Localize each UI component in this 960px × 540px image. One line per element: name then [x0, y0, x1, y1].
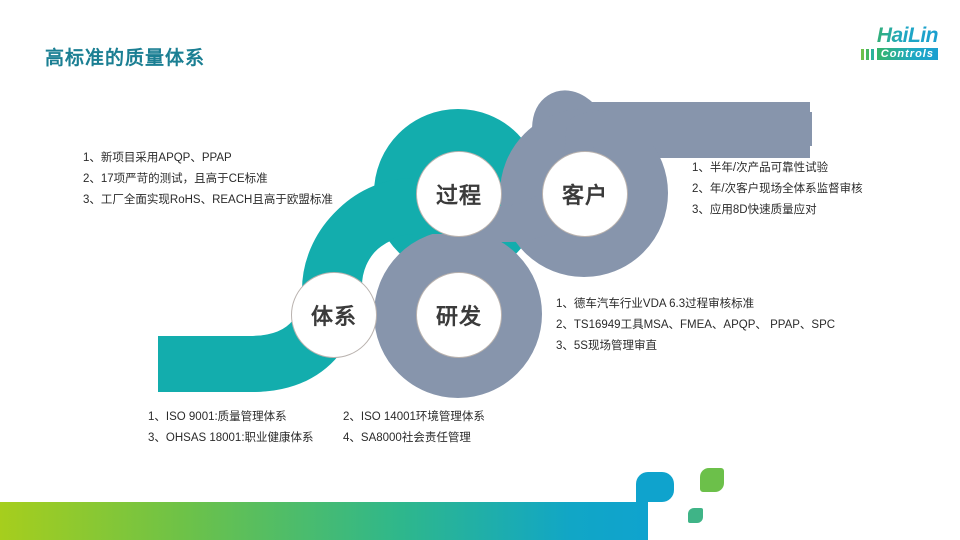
node-rd[interactable]: 研发 [416, 272, 502, 358]
bullet-item: 3、工厂全面实现RoHS、REACH且高于欧盟标准 [83, 190, 333, 211]
deco-leaf-small-icon [688, 508, 703, 523]
deco-leaf-large-icon [700, 468, 724, 492]
footer-step-shape [636, 472, 674, 502]
bullet-item: 2、TS16949工具MSA、FMEA、APQP、 PPAP、SPC [556, 315, 835, 336]
bullet-item: 1、ISO 9001:质量管理体系 [148, 407, 343, 428]
node-process[interactable]: 过程 [416, 151, 502, 237]
bullets-left: 1、新项目采用APQP、PPAP 2、17项严苛的测试，且高于CE标准 3、工厂… [83, 148, 333, 211]
node-customer[interactable]: 客户 [542, 151, 628, 237]
bullet-item: 2、17项严苛的测试，且高于CE标准 [83, 169, 333, 190]
bullet-row: 1、ISO 9001:质量管理体系 2、ISO 14001环境管理体系 [148, 407, 538, 428]
bullet-item: 4、SA8000社会责任管理 [343, 428, 538, 449]
bullet-item: 1、德车汽车行业VDA 6.3过程审核标准 [556, 294, 835, 315]
serpentine-ribbon-graphic [0, 0, 960, 540]
bullet-item: 3、5S现场管理审直 [556, 336, 835, 357]
bullet-item: 1、新项目采用APQP、PPAP [83, 148, 333, 169]
bullets-middle: 1、德车汽车行业VDA 6.3过程审核标准 2、TS16949工具MSA、FME… [556, 294, 835, 357]
slide-canvas: 高标准的质量体系 HaiLin Controls [0, 0, 960, 540]
node-customer-label: 客户 [562, 178, 608, 210]
footer-gradient-bar [0, 502, 648, 540]
node-rd-label: 研发 [436, 299, 482, 331]
bullets-bottom: 1、ISO 9001:质量管理体系 2、ISO 14001环境管理体系 3、OH… [148, 407, 538, 449]
node-process-label: 过程 [436, 178, 482, 210]
bullet-item: 2、年/次客户现场全体系监督审核 [692, 179, 863, 200]
bullet-item: 1、半年/次产品可靠性试验 [692, 158, 863, 179]
bullet-item: 2、ISO 14001环境管理体系 [343, 407, 538, 428]
node-system[interactable]: 体系 [291, 272, 377, 358]
bullets-right: 1、半年/次产品可靠性试验 2、年/次客户现场全体系监督审核 3、应用8D快速质… [692, 158, 863, 221]
node-system-label: 体系 [311, 299, 357, 331]
bullet-item: 3、OHSAS 18001:职业健康体系 [148, 428, 343, 449]
bullet-row: 3、OHSAS 18001:职业健康体系 4、SA8000社会责任管理 [148, 428, 538, 449]
bullet-item: 3、应用8D快速质量应对 [692, 200, 863, 221]
